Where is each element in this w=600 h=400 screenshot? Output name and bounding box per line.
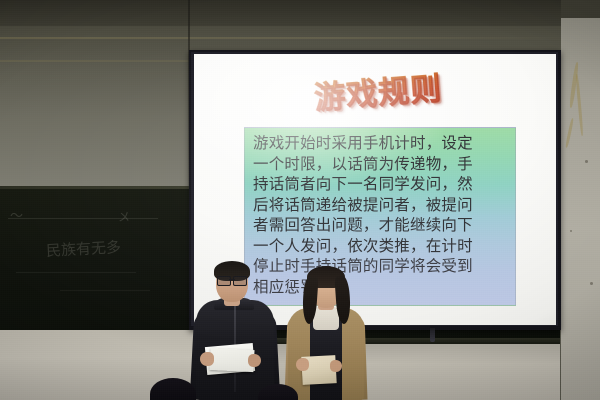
slide-body-line: 相应惩罚 — [253, 277, 507, 298]
right-wall — [561, 18, 600, 400]
left-hand — [296, 358, 309, 371]
projection-screen: 游戏规则 游戏开始时采用手机计时，设定 一个时限，以话筒为传递物，手 持话筒者向… — [194, 54, 556, 325]
ceiling-band — [0, 0, 600, 26]
glasses-bridge — [229, 279, 235, 280]
wall-speck-1 — [585, 160, 588, 163]
slide-body-line: 停止时手持话筒的同学将会受到 — [253, 256, 507, 277]
chalk-smear-2 — [16, 272, 136, 273]
right-hand — [330, 360, 342, 372]
slide-body-line: 游戏开始时采用手机计时，设定 — [253, 133, 507, 154]
right-hand — [248, 354, 261, 367]
slide-body-line: 一个时限，以话筒为传递物，手 — [253, 154, 507, 175]
slide-body-line: 者需回答出问题，才能继续向下 — [253, 215, 507, 236]
slide-body-textbox: 游戏开始时采用手机计时，设定 一个时限，以话筒为传递物，手 持话筒者向下一名同学… — [244, 127, 516, 306]
ceiling-seam — [0, 37, 565, 39]
wall-speck-3 — [590, 282, 593, 285]
slide-body-line: 持话筒者向下一名同学发问，然 — [253, 174, 507, 195]
slide-title: 游戏规则 — [257, 59, 500, 123]
screen-pull-tab[interactable] — [430, 328, 435, 342]
chalk-smear-1 — [8, 218, 158, 219]
presentation-slide: 游戏规则 游戏开始时采用手机计时，设定 一个时限，以话筒为传递物，手 持话筒者向… — [194, 54, 556, 325]
slide-body-line: 后将话筒递给被提问者，被提问 — [253, 195, 507, 216]
chalk-smear-3 — [60, 290, 150, 291]
wall-speck-2 — [570, 230, 572, 232]
classroom-photo: 民族有无多 〜 〤 游戏规则 游戏开始时采用手机计时，设定 一个时限，以话筒为传… — [0, 0, 600, 400]
left-hand — [200, 352, 214, 366]
slide-body-line: 一个人发问，依次类推，在计时 — [253, 236, 507, 257]
